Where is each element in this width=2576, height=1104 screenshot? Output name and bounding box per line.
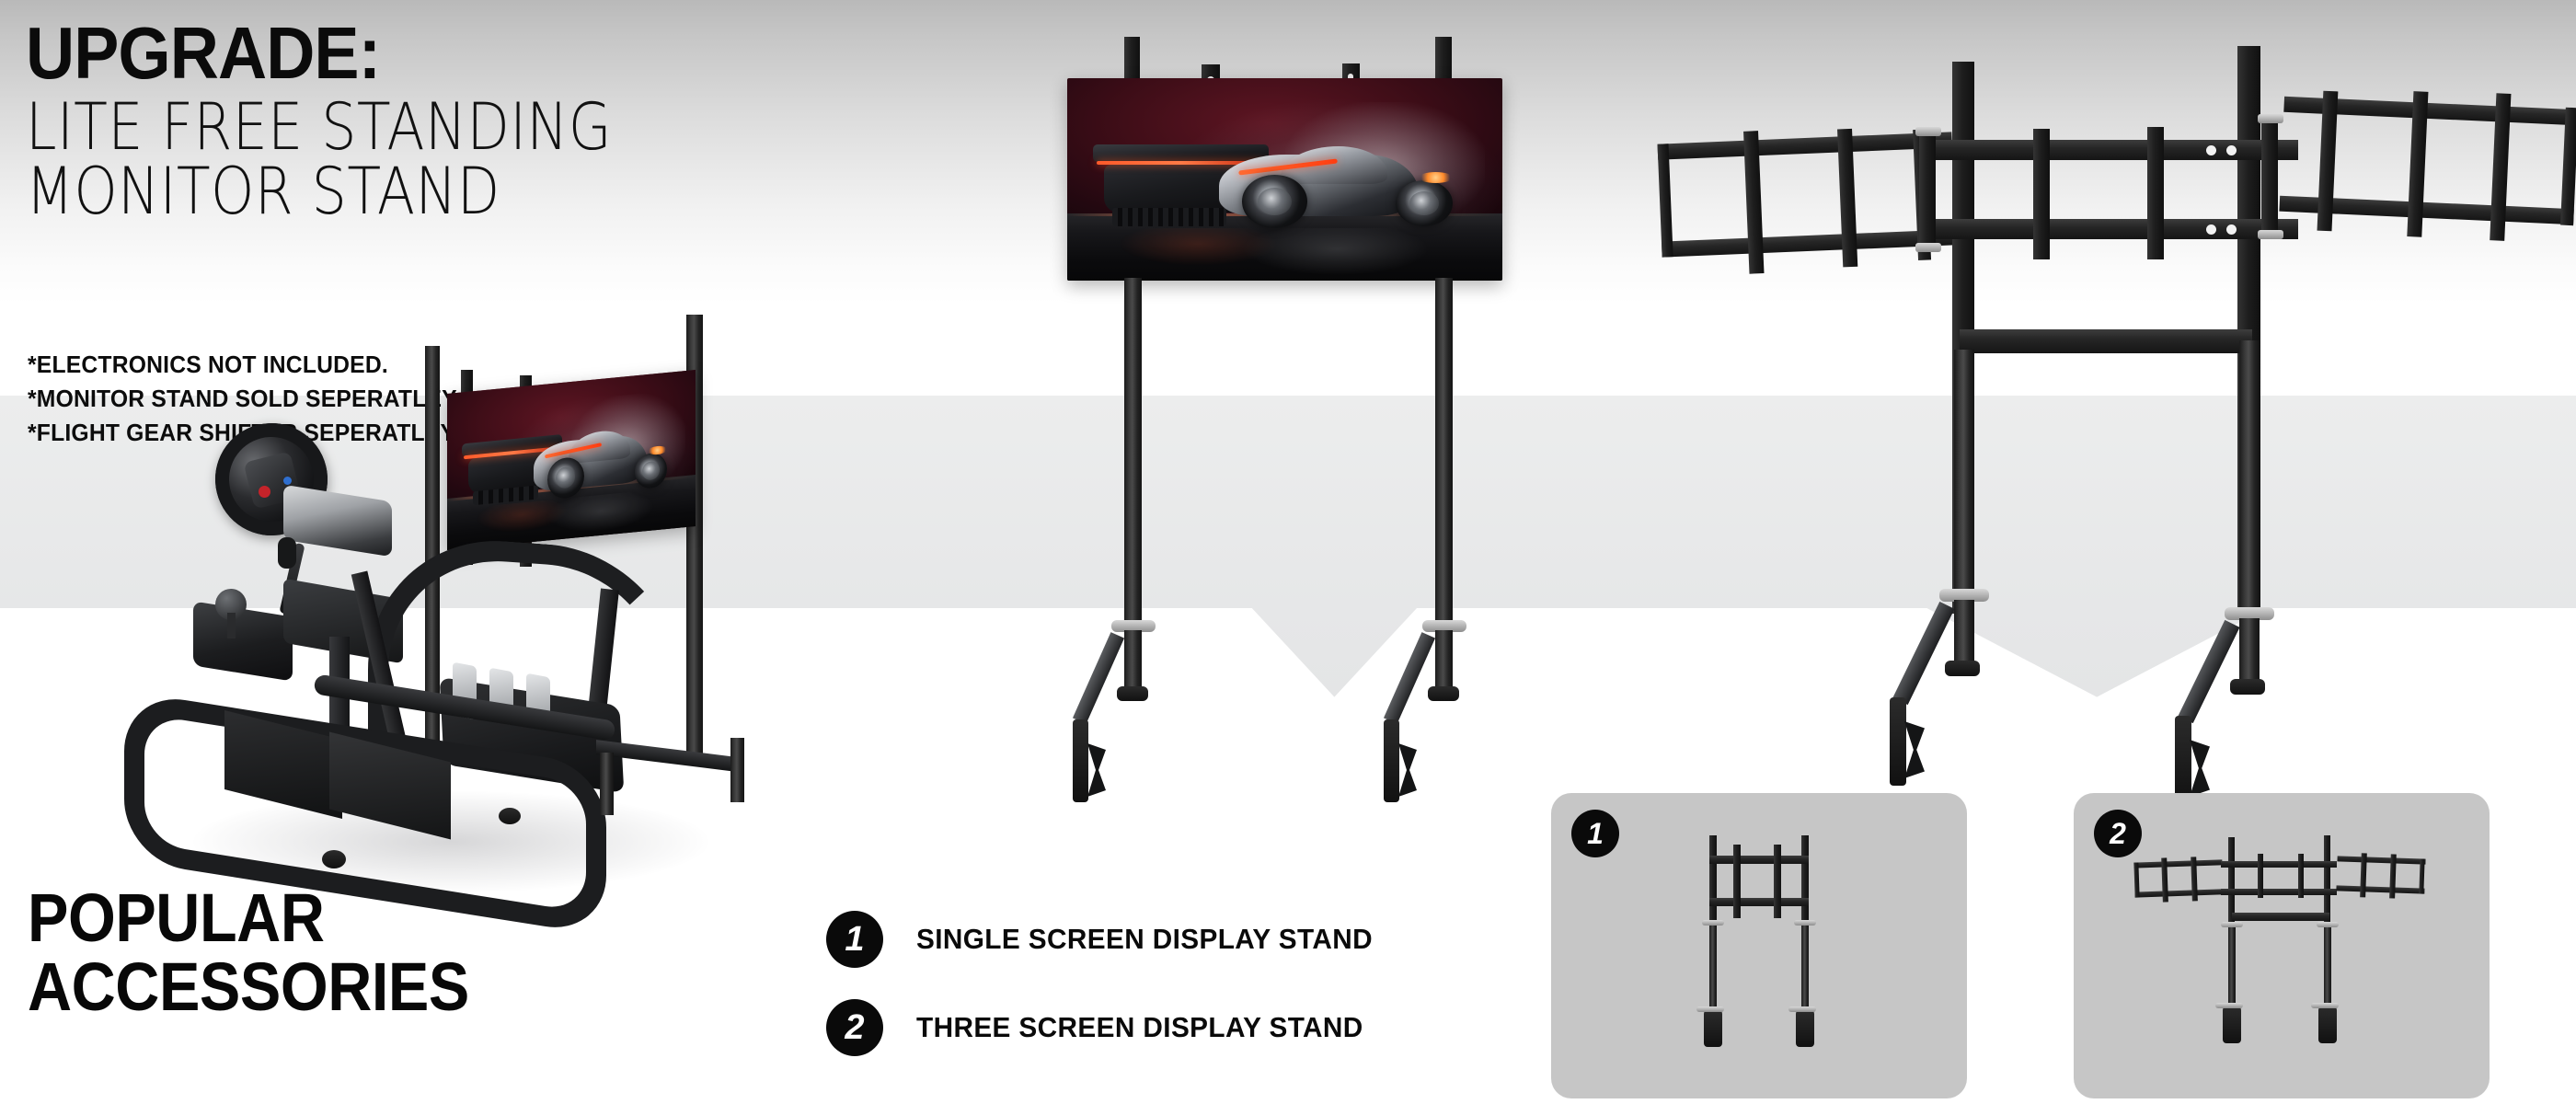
legend-list: 1 SINGLE SCREEN DISPLAY STAND 2 THREE SC… [826,911,1392,1087]
card-2-illustration [2074,793,2490,1098]
mini1-foot-right [1796,1010,1814,1047]
steering-wheel-button-blue [283,477,292,485]
triple-hinge-bolt-right-bottom [2258,230,2283,239]
mini1-base-left [1696,1006,1724,1012]
single-stand-pole-left [1124,278,1142,622]
product-banner: UPGRADE: LITE FREE STANDING MONITOR STAN… [0,0,2576,1104]
mini2-cross-brace [2232,913,2329,921]
single-screen-car [1089,143,1472,227]
mini2-foot-left [2223,1006,2241,1043]
headline-eyebrow: UPGRADE: [26,18,923,89]
single-screen-reflection [1067,228,1502,281]
mini1-rail-bottom [1709,898,1809,906]
single-car-rear-wing [1093,144,1269,161]
triple-center-hole-d [2226,224,2237,235]
triple-center-strut-1 [2033,129,2050,259]
car-headlight [648,445,667,455]
triple-brace-left [1892,602,1954,705]
triple-hinge-bolt-right-top [2258,114,2283,123]
triple-foot-pole-left [1954,600,1974,666]
mini2-wr-bottom [2336,885,2424,893]
triple-foot-cap-left [1945,661,1980,676]
mini2-pole-right [2324,922,2331,1006]
mini2-rail-bottom [2221,889,2337,895]
triple-hinge-bolt-left-top [1915,127,1941,136]
mini2-pole-left [2228,922,2236,1006]
triple-hinge-right [2261,120,2278,236]
mini2-wl-top [2133,859,2222,868]
card-1-illustration [1551,793,1967,1098]
cockpit-monitor-leg-front [600,753,614,815]
mini2-collar-right [2317,922,2339,927]
accessory-card-1[interactable]: 1 [1551,793,1967,1098]
triple-brace-right [2178,620,2239,723]
triple-wing-right [2279,97,2576,227]
triple-center-rail-top [1930,140,2298,160]
cockpit-monitor-leg-back [730,738,744,802]
headline-block: UPGRADE: LITE FREE STANDING MONITOR STAN… [26,18,1001,224]
gear-shifter-stick [227,613,236,638]
single-stand-foot-cap-left [1117,686,1148,701]
cockpit-foot-rear [499,808,521,824]
racing-cockpit-photo [175,313,764,892]
mini2-strut-1 [2258,854,2263,898]
single-car-wheel-rear [1242,175,1307,227]
legend-item-2[interactable]: 2 THREE SCREEN DISPLAY STAND [826,999,1392,1056]
legend-label-1: SINGLE SCREEN DISPLAY STAND [916,923,1373,956]
headline-line-1: LITE FREE STANDING [26,95,865,159]
mini1-strut-1 [1733,845,1741,918]
steering-wheel-button-red [259,486,270,498]
triple-hinge-bolt-left-bottom [1915,243,1941,252]
mini2-base-right [2311,1003,2339,1008]
mini2-wl-bottom [2134,889,2223,897]
single-stand-outrigger-left [1073,719,1088,802]
accessory-card-2[interactable]: 2 [2074,793,2490,1098]
legend-badge-2: 2 [826,999,883,1056]
single-stand-outrigger-right [1384,719,1399,802]
triple-center-rail-bottom [1930,219,2298,239]
single-stand-brace-right [1384,632,1435,724]
triple-outrigger-left [1890,697,1906,786]
triple-foot-pole-right [2239,618,2260,684]
mini1-collar-left [1702,920,1724,926]
single-car-diffuser [1112,208,1227,226]
mini1-pole-left [1709,922,1717,1010]
mini1-rail-top [1709,856,1809,864]
mini1-base-right [1788,1006,1816,1012]
single-stand-clip-right [1398,743,1417,797]
triple-wing-left-rail-top [1658,132,1952,159]
triple-foot-cap-right [2230,679,2265,695]
single-stand-foot-pole-right [1435,630,1453,693]
mini2-strut-2 [2298,854,2304,898]
single-car-wheel-front [1396,180,1453,226]
triple-outrigger-right [2175,716,2191,804]
single-stand-pole-right [1435,278,1453,622]
single-screen-stand [1067,37,1555,773]
mini2-base-left [2215,1003,2243,1008]
triple-pole-left [1954,350,1974,626]
legend-label-2: THREE SCREEN DISPLAY STAND [916,1011,1363,1044]
single-stand-screen [1067,78,1502,281]
triple-center-hole-b [2226,145,2237,155]
mini2-collar-left [2221,922,2243,927]
mini1-foot-left [1704,1010,1722,1047]
triple-cross-brace [1960,329,2252,353]
headline-title: LITE FREE STANDING MONITOR STAND [26,95,865,224]
triple-wing-right-edge [2560,108,2576,226]
mini2-rail-top [2221,861,2337,868]
mini2-wr-top [2337,856,2425,864]
cockpit-monitor-screen [447,370,696,550]
triple-center-strut-2 [2147,127,2164,259]
popular-line-2: ACCESSORIES [28,952,469,1021]
triple-wing-left [1658,132,1957,259]
single-stand-brace-left [1073,632,1124,724]
triple-wing-left-rail-bottom [1662,229,1956,257]
triple-pole-right [2239,340,2260,626]
mini2-wing-right [2336,856,2425,893]
triple-clip-right [2190,740,2210,797]
mini1-strut-2 [1774,845,1781,918]
triple-center-hole-c [2206,224,2216,235]
single-stand-clip-left [1087,743,1106,797]
headline-line-2: MONITOR STAND [26,159,865,224]
triple-clip-left [1904,721,1925,778]
legend-item-1[interactable]: 1 SINGLE SCREEN DISPLAY STAND [826,911,1392,968]
mini1-pole-right [1801,922,1809,1010]
mini1-collar-right [1794,920,1816,926]
mini2-wing-left [2133,859,2223,897]
mini2-foot-right [2318,1006,2337,1043]
single-car-headlight [1419,172,1453,183]
triple-hinge-left [1919,132,1936,248]
triple-wing-left-edge [1658,144,1673,257]
cockpit-foot-front [322,850,346,868]
triple-screen-stand [1647,37,2576,791]
triple-center-hole-a [2206,145,2216,155]
legend-badge-1: 1 [826,911,883,968]
handbrake-grip [278,537,296,569]
single-stand-foot-cap-right [1428,686,1459,701]
single-stand-foot-pole-left [1124,630,1142,693]
